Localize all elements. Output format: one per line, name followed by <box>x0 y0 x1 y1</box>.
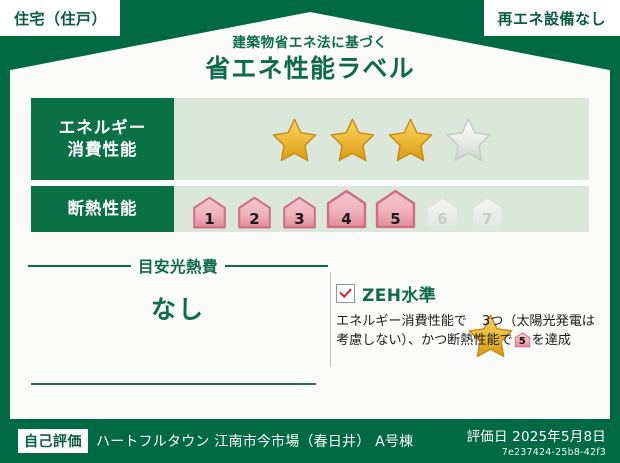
heading-rule-left <box>28 265 131 267</box>
insulation-level-value: 1 <box>188 212 231 227</box>
inline-level-chip-icon: 5 <box>513 332 532 348</box>
zeh-desc-part1: エネルギー消費性能で <box>336 314 467 329</box>
energy-label-line2: 消費性能 <box>68 139 138 161</box>
renewable-equipment-tag: 再エネ設備なし <box>484 0 620 36</box>
insulation-level-chip: 5 <box>372 189 419 230</box>
insulation-level-chip: 7 <box>466 189 509 230</box>
insulation-level-value: 6 <box>421 212 464 227</box>
energy-performance-label: 住宅（住戸） 再エネ設備なし 建築物省エネ法に基づく 省エネ性能ラベル エネルギ… <box>0 0 620 463</box>
title-subtitle: 建築物省エネ法に基づく <box>0 36 620 51</box>
heading-rule-right <box>225 265 328 267</box>
insulation-level-chip: 3 <box>278 189 321 230</box>
insulation-level-scale: 1 2 3 4 5 6 7 <box>174 186 589 232</box>
estimated-utility-cost-value: なし <box>28 290 328 326</box>
estimated-utility-cost-heading: 目安光熱費 <box>28 255 328 277</box>
evaluation-date: 評価日 2025年5月8日 <box>467 425 606 445</box>
title-main: 省エネ性能ラベル <box>0 55 620 83</box>
zeh-description: エネルギー消費性能で 3つ（太陽光発電は考慮しない）、かつ断熱性能で 5を達成 <box>336 312 598 350</box>
energy-label-line1: エネルギー <box>59 117 147 139</box>
zeh-section: ZEH水準 エネルギー消費性能で 3つ（太陽光発電は考慮しない）、かつ断熱性能で… <box>336 281 598 350</box>
energy-consumption-row: エネルギー 消費性能 <box>31 98 589 180</box>
inline-star-icon <box>467 313 482 328</box>
insulation-performance-row: 断熱性能 1 2 3 4 5 <box>31 186 589 232</box>
insulation-level-chip: 6 <box>421 189 464 230</box>
metric-rows: エネルギー 消費性能 断熱性能 <box>31 98 589 238</box>
star-filled-icon <box>271 117 318 162</box>
insulation-level-value: 5 <box>372 212 419 227</box>
estimated-utility-cost-label: 目安光熱費 <box>131 255 225 277</box>
building-name: ハートフルタウン 江南市今市場（春日井） A号棟 <box>96 431 413 451</box>
insulation-performance-label: 断熱性能 <box>31 186 174 232</box>
inline-level-chip-value: 5 <box>513 337 532 347</box>
insulation-level-chip: 2 <box>233 189 276 230</box>
star-filled-icon <box>387 117 434 162</box>
zeh-desc-part3: を達成 <box>532 333 571 348</box>
label-title: 建築物省エネ法に基づく 省エネ性能ラベル <box>0 36 620 82</box>
insulation-level-value: 3 <box>278 212 321 227</box>
insulation-level-chip: 1 <box>188 189 231 230</box>
zeh-title: ZEH水準 <box>362 281 436 306</box>
zeh-checkbox-checked-icon <box>336 284 355 303</box>
vertical-divider <box>330 272 331 367</box>
insulation-level-value: 2 <box>233 212 276 227</box>
star-rating <box>174 98 589 180</box>
star-filled-icon <box>329 117 376 162</box>
footer-right-group: 評価日 2025年5月8日 7e237424-25b8-42f3 <box>467 425 606 458</box>
insulation-label-text: 断熱性能 <box>68 198 138 220</box>
building-type-tag: 住宅（住戸） <box>0 0 120 36</box>
footer-left-group: 自己評価 ハートフルタウン 江南市今市場（春日井） A号棟 <box>18 429 413 453</box>
insulation-level-value: 7 <box>466 212 509 227</box>
energy-consumption-label: エネルギー 消費性能 <box>31 98 174 180</box>
horizontal-divider <box>31 383 316 385</box>
self-evaluation-badge: 自己評価 <box>18 429 88 453</box>
insulation-level-value: 4 <box>323 212 370 227</box>
insulation-level-chip: 4 <box>323 189 370 230</box>
document-id: 7e237424-25b8-42f3 <box>467 447 606 458</box>
zeh-heading: ZEH水準 <box>336 281 598 306</box>
label-footer: 自己評価 ハートフルタウン 江南市今市場（春日井） A号棟 評価日 2025年5… <box>0 419 620 463</box>
star-empty-icon <box>445 117 492 162</box>
